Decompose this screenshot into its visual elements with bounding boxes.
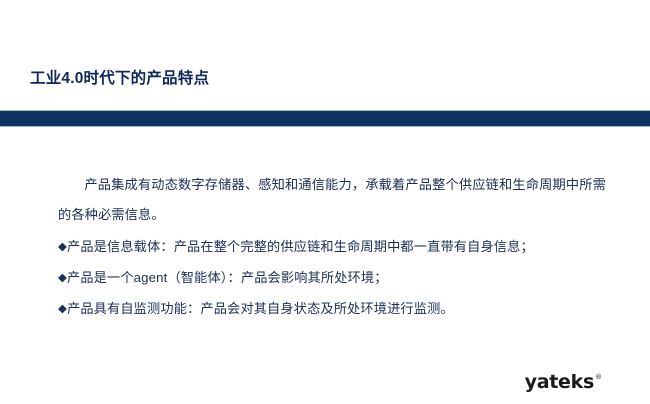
diamond-bullet-icon: ◆	[58, 294, 67, 324]
diamond-bullet-icon: ◆	[58, 232, 67, 262]
slide-canvas: 工业4.0时代下的产品特点 产品集成有动态数字存储器、感知和通信能力，承载着产品…	[0, 0, 650, 404]
page-title: 工业4.0时代下的产品特点	[30, 66, 209, 88]
list-item-label: 产品是一个agent（智能体）：产品会影响其所处环境；	[67, 270, 388, 285]
brand-logo: yateks ®	[525, 373, 602, 392]
list-item: ◆产品具有自监测功能：产品会对其自身状态及所处环境进行监测。	[58, 294, 606, 325]
intro-paragraph: 产品集成有动态数字存储器、感知和通信能力，承载着产品整个供应链和生命周期中所需的…	[58, 170, 606, 230]
registered-trademark-icon: ®	[595, 374, 602, 381]
diamond-bullet-icon: ◆	[58, 263, 67, 293]
slide-body: 产品集成有动态数字存储器、感知和通信能力，承载着产品整个供应链和生命周期中所需的…	[58, 170, 606, 325]
list-item: ◆产品是一个agent（智能体）：产品会影响其所处环境；	[58, 263, 606, 294]
list-item-label: 产品是信息载体：产品在整个完整的供应链和生命周期中都一直带有自身信息；	[67, 239, 534, 254]
list-item-label: 产品具有自监测功能：产品会对其自身状态及所处环境进行监测。	[67, 301, 454, 316]
title-divider-bar	[0, 110, 650, 127]
feature-bullet-list: ◆产品是信息载体：产品在整个完整的供应链和生命周期中都一直带有自身信息； ◆产品…	[58, 232, 606, 325]
brand-logo-wordmark: yateks	[525, 373, 594, 392]
list-item: ◆产品是信息载体：产品在整个完整的供应链和生命周期中都一直带有自身信息；	[58, 232, 606, 263]
